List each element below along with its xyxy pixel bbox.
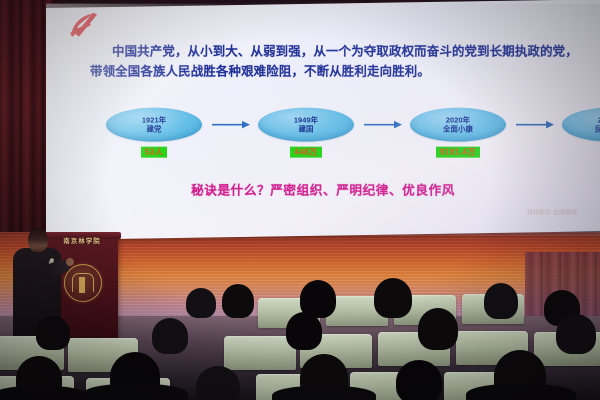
timeline-oval-4: 2049年 民族复兴 <box>562 108 600 142</box>
timeline-oval-1: 1921年 建党 <box>106 108 202 142</box>
timeline-node-4: 2049年 民族复兴 <box>562 108 600 142</box>
audience-head-m4 <box>418 308 458 350</box>
timeline-oval-2: 1949年 建国 <box>258 108 354 142</box>
audience-shoulders-f2 <box>82 384 188 400</box>
audience-seating <box>0 292 600 400</box>
speaker-hand <box>66 258 74 266</box>
timeline-arrow-2 <box>364 120 402 130</box>
audience-head-m3 <box>286 312 322 350</box>
audience-head-m1 <box>36 316 70 350</box>
broadcast-watermark: 特讯新华 全媒新闻 <box>512 210 592 218</box>
timeline-label-3: 全面小康 <box>443 125 473 134</box>
timeline-node-2: 1949年 建国 448万 <box>258 108 354 158</box>
timeline-label-1: 建党 <box>147 125 162 134</box>
timeline-node-1: 1921年 建党 53人 <box>106 108 202 158</box>
timeline-year-3: 2020年 <box>446 115 470 124</box>
timeline-label-4: 民族复兴 <box>595 125 600 134</box>
projection-screen: 中国共产党，从小到大、从弱到强，从一个为夺取政权而奋斗的党到长期执政的党，带领全… <box>46 0 600 240</box>
timeline-badge-2: 448万 <box>290 147 321 158</box>
timeline-oval-3: 2020年 全面小康 <box>410 108 506 142</box>
timeline-label-2: 建国 <box>299 125 314 134</box>
speaker-head <box>28 228 48 252</box>
audience-head-b1 <box>186 288 216 318</box>
cpc-hammer-sickle-icon <box>66 10 106 42</box>
timeline-diagram: 1921年 建党 53人 1949年 建国 448万 <box>46 108 600 170</box>
seat-mid-3 <box>224 336 296 370</box>
timeline-badge-1: 53人 <box>141 147 167 158</box>
timeline-year-2: 1949年 <box>294 115 318 124</box>
timeline-arrow-3 <box>516 120 554 130</box>
audience-head-f3 <box>196 366 240 400</box>
audience-head-f5 <box>396 360 442 400</box>
slide-secret-line: 秘诀是什么？严密组织、严明纪律、优良作风 <box>46 180 600 199</box>
audience-head-b5 <box>484 283 518 319</box>
audience-shoulders-f4 <box>272 386 376 400</box>
audience-shoulders-f6 <box>466 384 576 400</box>
stage-curtain-left <box>0 0 52 252</box>
audience-head-m2 <box>152 318 188 354</box>
timeline-badge-3: 9191.4万 <box>436 147 480 158</box>
timeline-arrow-1 <box>212 120 250 130</box>
audience-shoulders-f1 <box>0 386 88 400</box>
slide-body-text: 中国共产党，从小到大、从弱到强，从一个为夺取政权而奋斗的党到长期执政的党，带领全… <box>90 42 582 82</box>
audience-head-b4 <box>374 278 412 318</box>
audience-head-m5 <box>556 314 596 354</box>
timeline-node-3: 2020年 全面小康 9191.4万 <box>410 108 506 158</box>
lecture-hall-photo: 中国共产党，从小到大、从弱到强，从一个为夺取政权而奋斗的党到长期执政的党，带领全… <box>0 0 600 400</box>
timeline-year-1: 1921年 <box>142 115 166 124</box>
audience-head-b2 <box>222 284 254 318</box>
